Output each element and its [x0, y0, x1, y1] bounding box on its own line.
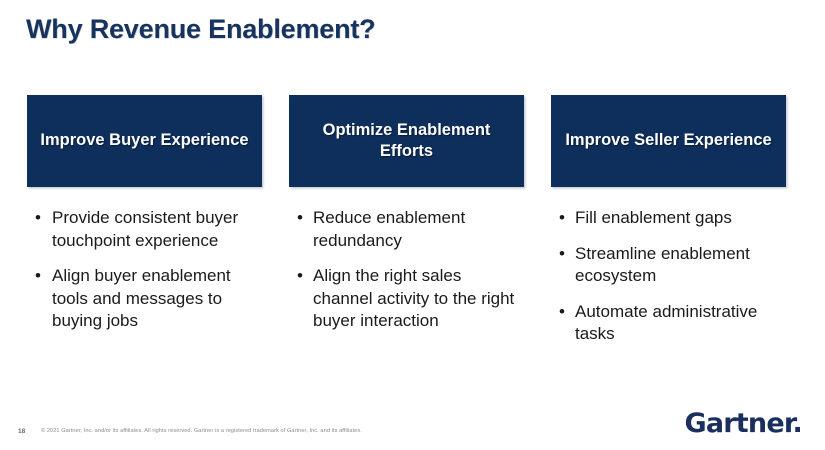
bullet-dot-icon: •	[559, 207, 565, 230]
bullet-text: Reduce enablement redundancy	[313, 208, 465, 250]
bullet-dot-icon: •	[297, 265, 303, 288]
column-improve-seller-experience: Improve Seller Experience • Fill enablem…	[551, 95, 786, 346]
column-header-label-3: Improve Seller Experience	[557, 130, 779, 151]
slide-canvas: Why Revenue Enablement? Improve Buyer Ex…	[0, 0, 825, 450]
bullet-text: Streamline enablement ecosystem	[575, 244, 750, 286]
bullet-dot-icon: •	[35, 207, 41, 230]
logo-dot-icon: .	[793, 408, 802, 439]
list-item: • Streamline enablement ecosystem	[551, 243, 786, 288]
list-item: • Reduce enablement redundancy	[289, 207, 524, 252]
column-improve-buyer-experience: Improve Buyer Experience • Provide consi…	[27, 95, 262, 333]
list-item: • Automate administrative tasks	[551, 301, 786, 346]
slide-number: 18	[18, 428, 25, 435]
bullet-list-2: • Reduce enablement redundancy • Align t…	[289, 187, 524, 333]
gartner-logo: Gartner.	[685, 408, 802, 439]
copyright-notice: © 2021 Gartner, Inc. and/or its affiliat…	[41, 428, 362, 434]
bullet-text: Fill enablement gaps	[575, 208, 732, 227]
bullet-dot-icon: •	[297, 207, 303, 230]
bullet-list-1: • Provide consistent buyer touchpoint ex…	[27, 187, 262, 333]
column-header-label-1: Improve Buyer Experience	[32, 130, 256, 151]
list-item: • Align buyer enablement tools and messa…	[27, 265, 262, 333]
column-group: Improve Buyer Experience • Provide consi…	[27, 95, 798, 346]
logo-wordmark: Gartner	[685, 408, 793, 439]
bullet-text: Align buyer enablement tools and message…	[52, 266, 231, 330]
column-header-label-2: Optimize Enablement Efforts	[289, 120, 524, 162]
bullet-list-3: • Fill enablement gaps • Streamline enab…	[551, 187, 786, 346]
column-optimize-enablement-efforts: Optimize Enablement Efforts • Reduce ena…	[289, 95, 524, 333]
bullet-text: Align the right sales channel activity t…	[313, 266, 514, 330]
column-header-box-2: Optimize Enablement Efforts	[289, 95, 524, 187]
list-item: • Provide consistent buyer touchpoint ex…	[27, 207, 262, 252]
page-title: Why Revenue Enablement?	[26, 14, 375, 45]
bullet-dot-icon: •	[35, 265, 41, 288]
list-item: • Align the right sales channel activity…	[289, 265, 524, 333]
bullet-dot-icon: •	[559, 301, 565, 324]
bullet-text: Provide consistent buyer touchpoint expe…	[52, 208, 238, 250]
column-header-box-3: Improve Seller Experience	[551, 95, 786, 187]
list-item: • Fill enablement gaps	[551, 207, 786, 230]
bullet-text: Automate administrative tasks	[575, 302, 757, 344]
column-header-box-1: Improve Buyer Experience	[27, 95, 262, 187]
bullet-dot-icon: •	[559, 243, 565, 266]
